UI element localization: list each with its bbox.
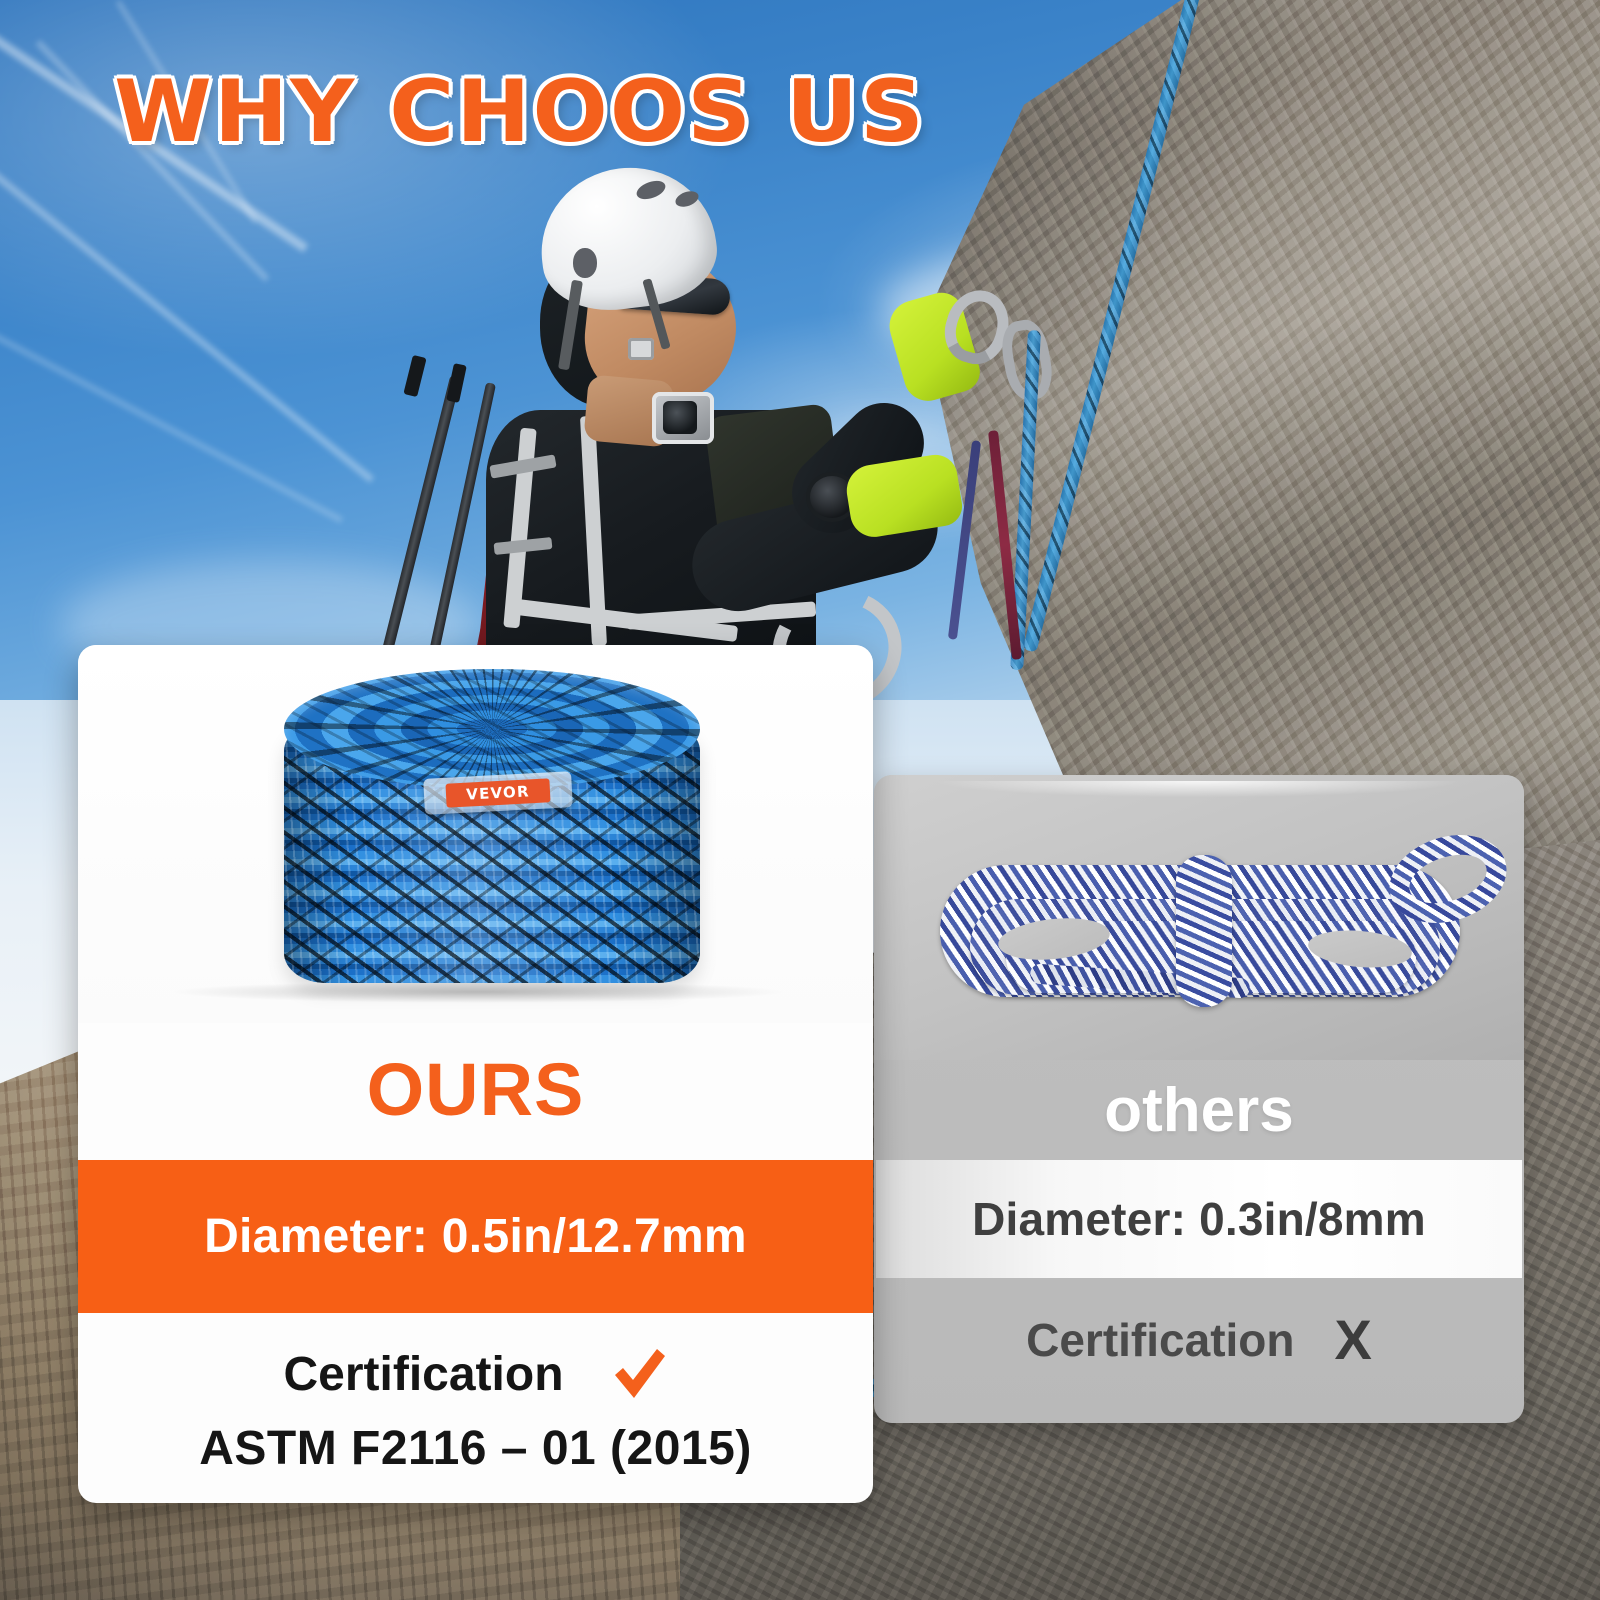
- others-certification-row: Certification X: [874, 1295, 1524, 1385]
- blue-rope-coil: VEVOR: [274, 663, 710, 993]
- coil-top-face: [284, 669, 700, 789]
- trekking-pole: [378, 375, 461, 669]
- rope-tie-wrap: [1176, 855, 1232, 1007]
- page-title: WHY CHOOS US: [114, 62, 926, 162]
- ours-standard-row: ASTM F2116 – 01 (2015): [78, 1413, 873, 1483]
- climber-figure: [390, 160, 1090, 680]
- strap-buckle: [628, 338, 654, 360]
- brand-tag-sticker: VEVOR: [445, 778, 550, 807]
- comparison-card-others[interactable]: others Diameter: 0.3in/8mm Certification…: [874, 775, 1524, 1423]
- action-camera: [652, 392, 714, 444]
- others-product-photo: [874, 775, 1524, 1060]
- others-diameter-band: Diameter: 0.3in/8mm: [876, 1160, 1522, 1278]
- brand-name: VEVOR: [466, 782, 530, 803]
- pole-tip: [403, 355, 426, 397]
- ours-standard-text: ASTM F2116 – 01 (2015): [199, 1421, 752, 1476]
- ours-product-photo: VEVOR: [78, 645, 873, 1023]
- ours-diameter-text: Diameter: 0.5in/12.7mm: [204, 1209, 747, 1264]
- ours-diameter-band: Diameter: 0.5in/12.7mm: [78, 1160, 873, 1313]
- product-shadow: [168, 981, 788, 1003]
- helmet-vent: [573, 248, 597, 278]
- photo-gloss: [939, 781, 1459, 797]
- ours-label-row: OURS: [78, 1023, 873, 1155]
- check-icon: [610, 1345, 668, 1403]
- others-diameter-text: Diameter: 0.3in/8mm: [972, 1192, 1426, 1246]
- ours-title: OURS: [367, 1047, 585, 1132]
- ours-certification-label: Certification: [283, 1347, 563, 1402]
- cross-icon: X: [1335, 1312, 1372, 1368]
- others-title: others: [1104, 1075, 1293, 1146]
- others-label-row: others: [874, 1060, 1524, 1160]
- infographic-canvas: WHY CHOOS US others Diameter: 0.3in/8mm …: [0, 0, 1600, 1600]
- comparison-card-ours[interactable]: VEVOR OURS Diameter: 0.5in/12.7mm Certif…: [78, 645, 873, 1503]
- ours-certification-row: Certification: [78, 1335, 873, 1413]
- others-certification-label: Certification: [1026, 1313, 1294, 1367]
- others-rope-bundle: [910, 803, 1490, 1039]
- pole-tip: [446, 363, 467, 403]
